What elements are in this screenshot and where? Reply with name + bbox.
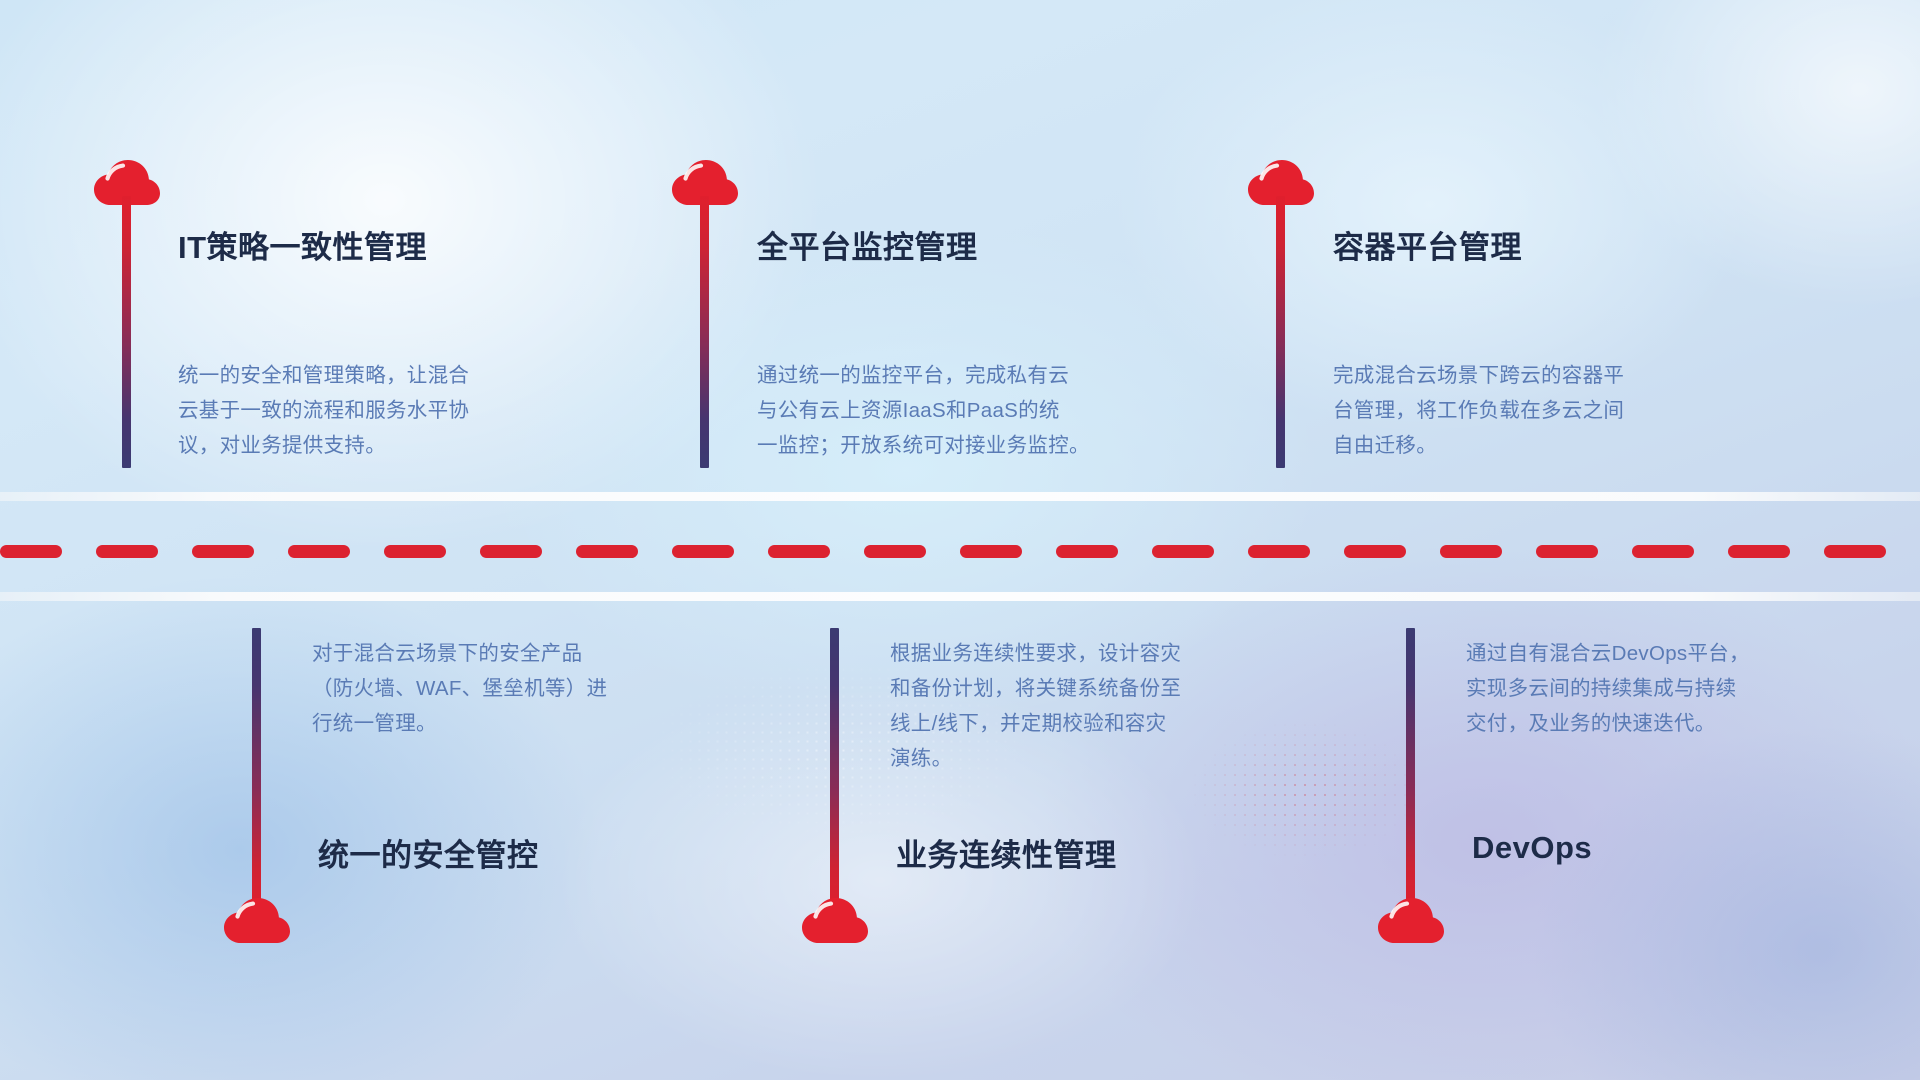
section-title: 统一的安全管控 [318, 830, 539, 875]
connector-stem [252, 628, 261, 913]
divider-dash [0, 545, 62, 558]
divider-dash [1728, 545, 1790, 558]
section-description: 对于混合云场景下的安全产品 （防火墙、WAF、堡垒机等）进 行统一管理。 [312, 636, 742, 741]
divider-dash [576, 545, 638, 558]
connector-stem [700, 196, 709, 468]
divider-dash [288, 545, 350, 558]
divider-dash [1824, 545, 1886, 558]
cloud-icon [224, 898, 290, 944]
section-title: 容器平台管理 [1333, 222, 1522, 267]
divider-bar-bottom [0, 592, 1920, 601]
divider-bar-top [0, 492, 1920, 501]
divider-dash [1344, 545, 1406, 558]
connector-stem [1276, 196, 1285, 468]
divider-dash [960, 545, 1022, 558]
section-title: IT策略一致性管理 [178, 222, 427, 267]
divider-dash [1536, 545, 1598, 558]
section-description: 通过统一的监控平台，完成私有云 与公有云上资源IaaS和PaaS的统 一监控；开… [757, 358, 1207, 463]
section-description: 完成混合云场景下跨云的容器平 台管理，将工作负载在多云之间 自由迁移。 [1333, 358, 1773, 463]
section-description: 通过自有混合云DevOps平台， 实现多云间的持续集成与持续 交付，及业务的快速… [1466, 636, 1896, 741]
section-description: 根据业务连续性要求，设计容灾 和备份计划，将关键系统备份至 线上/线下，并定期校… [890, 636, 1330, 776]
divider-dash [1632, 545, 1694, 558]
divider-dash [768, 545, 830, 558]
connector-stem [830, 628, 839, 913]
cloud-icon [802, 898, 868, 944]
divider-dash [1056, 545, 1118, 558]
section-title: 业务连续性管理 [896, 830, 1117, 875]
divider-dash [672, 545, 734, 558]
divider-dash [96, 545, 158, 558]
connector-stem [122, 196, 131, 468]
divider-dash [864, 545, 926, 558]
connector-stem [1406, 628, 1415, 913]
divider-dash [384, 545, 446, 558]
divider-dash [1440, 545, 1502, 558]
divider-dash [1152, 545, 1214, 558]
divider-dash [192, 545, 254, 558]
cloud-icon [1378, 898, 1444, 944]
divider-dash [480, 545, 542, 558]
section-title: 全平台监控管理 [757, 222, 978, 267]
divider-dash [1248, 545, 1310, 558]
section-description: 统一的安全和管理策略，让混合 云基于一致的流程和服务水平协 议，对业务提供支持。 [178, 358, 618, 463]
infographic-canvas: IT策略一致性管理 统一的安全和管理策略，让混合 云基于一致的流程和服务水平协 … [0, 0, 1920, 1080]
section-title: DevOps [1472, 830, 1592, 866]
